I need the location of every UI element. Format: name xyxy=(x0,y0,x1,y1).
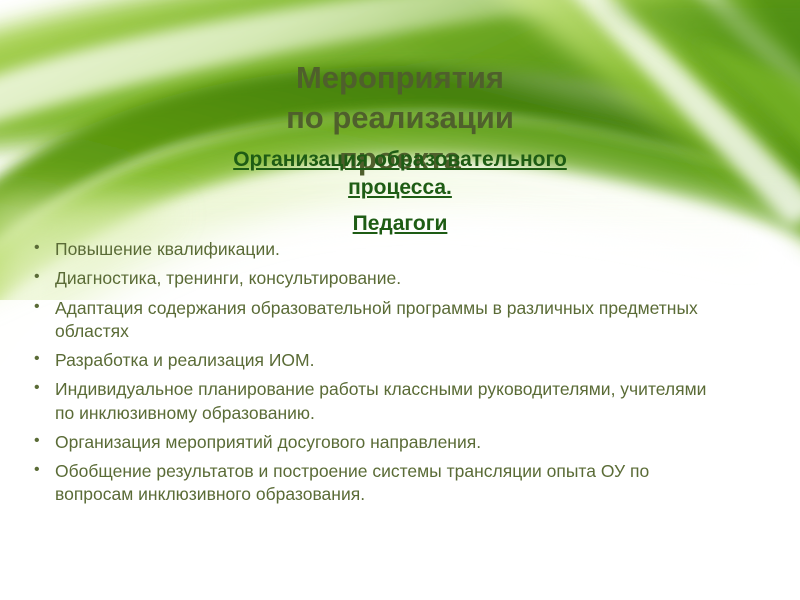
section-heading-pedagogues: Педагоги xyxy=(80,212,720,236)
list-item: Адаптация содержания образовательной про… xyxy=(28,297,708,344)
slide-text-layer: Мероприятия по реализации проекта Органи… xyxy=(0,0,800,600)
list-item: Разработка и реализация ИОМ. xyxy=(28,349,708,372)
list-item: Индивидуальное планирование работы класс… xyxy=(28,378,708,425)
list-item: Повышение квалификации. xyxy=(28,238,708,261)
slide-subtitle: Организация образовательного процесса. xyxy=(80,146,720,201)
presentation-slide: Мероприятия по реализации проекта Органи… xyxy=(0,0,800,600)
list-item: Диагностика, тренинги, консультирование. xyxy=(28,267,708,290)
list-item: Организация мероприятий досугового напра… xyxy=(28,431,708,454)
bullet-list: Повышение квалификации. Диагностика, тре… xyxy=(28,238,708,513)
list-item: Обобщение результатов и построение систе… xyxy=(28,460,708,507)
